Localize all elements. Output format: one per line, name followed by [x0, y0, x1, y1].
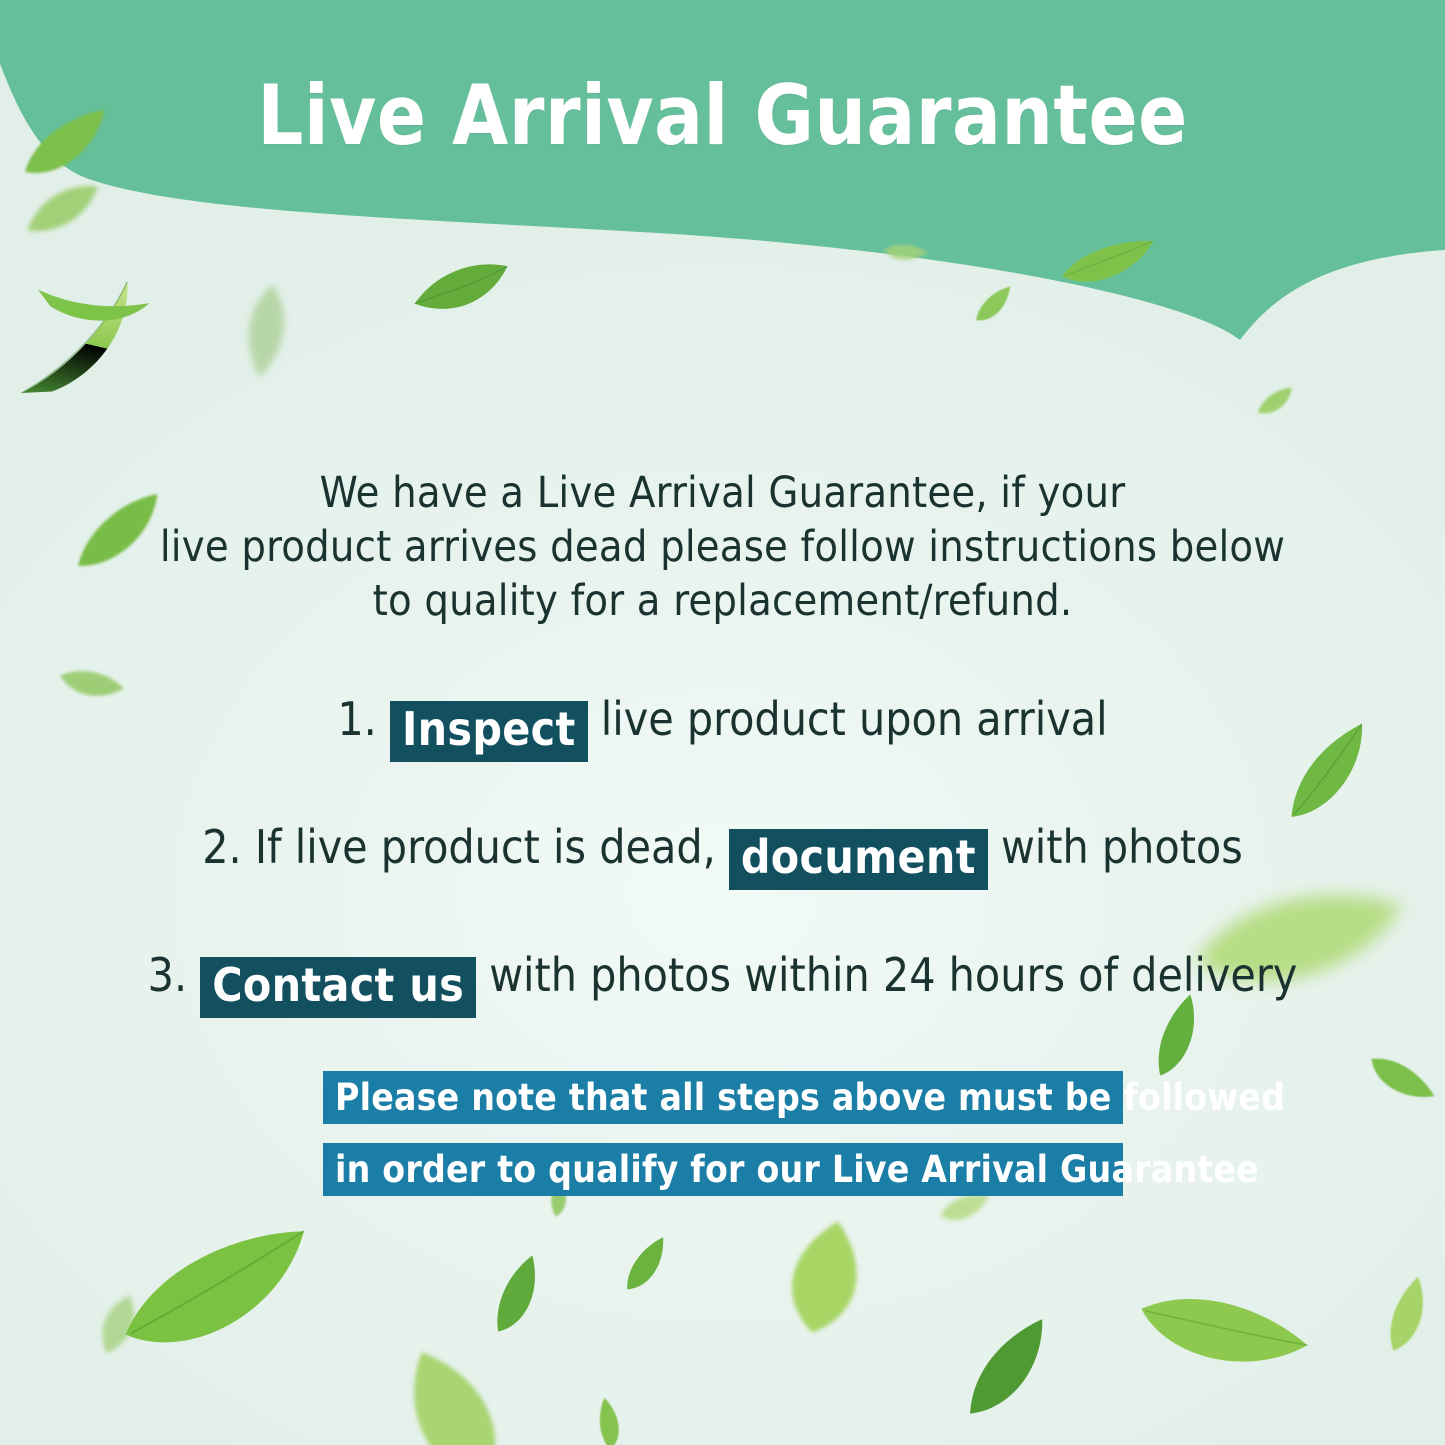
- intro-line-2: live product arrives dead please follow …: [0, 520, 1445, 574]
- note-block: Please note that all steps above must be…: [323, 1071, 1123, 1196]
- step-number-3: 3.: [148, 948, 187, 1002]
- leaf-icon: [83, 1285, 152, 1364]
- intro-paragraph: We have a Live Arrival Guarantee, if you…: [0, 466, 1445, 628]
- leaf-icon: [366, 1325, 539, 1445]
- step-text-2-after: with photos: [1001, 820, 1243, 874]
- intro-line-3: to quality for a replacement/refund.: [0, 574, 1445, 628]
- leaf-icon: [595, 1396, 627, 1445]
- live-arrival-guarantee-poster: Live Arrival Guarantee We have a Live Ar…: [0, 0, 1445, 1445]
- step-item-1: 1. Inspect live product upon arrival: [0, 688, 1445, 762]
- step-highlight-document[interactable]: document: [729, 829, 988, 890]
- leaf-icon: [1373, 1271, 1445, 1361]
- step-text-3-after: with photos within 24 hours of delivery: [489, 948, 1297, 1002]
- leaf-icon: [102, 1215, 333, 1376]
- step-text-1-after: live product upon arrival: [601, 692, 1108, 746]
- steps-list: 1. Inspect live product upon arrival 2. …: [0, 688, 1445, 1072]
- step-highlight-inspect[interactable]: Inspect: [390, 701, 588, 762]
- intro-line-1: We have a Live Arrival Guarantee, if you…: [0, 466, 1445, 520]
- step-highlight-contact-us[interactable]: Contact us: [200, 957, 476, 1018]
- note-line-2: in order to qualify for our Live Arrival…: [323, 1143, 1123, 1196]
- step-item-2: 2. If live product is dead, document wit…: [0, 816, 1445, 890]
- step-item-3: 3. Contact us with photos within 24 hour…: [0, 944, 1445, 1018]
- leaf-icon: [1122, 1257, 1319, 1415]
- note-divider: [323, 1124, 1123, 1143]
- step-text-2-before: If live product is dead,: [255, 820, 716, 874]
- step-number-1: 1.: [337, 692, 376, 746]
- leaf-icon: [613, 1231, 682, 1301]
- leaf-icon: [759, 1208, 892, 1348]
- step-number-2: 2.: [202, 820, 241, 874]
- note-line-1: Please note that all steps above must be…: [323, 1071, 1123, 1124]
- page-title: Live Arrival Guarantee: [22, 74, 1424, 157]
- leaf-icon: [944, 1309, 1076, 1434]
- leaf-icon: [476, 1249, 563, 1345]
